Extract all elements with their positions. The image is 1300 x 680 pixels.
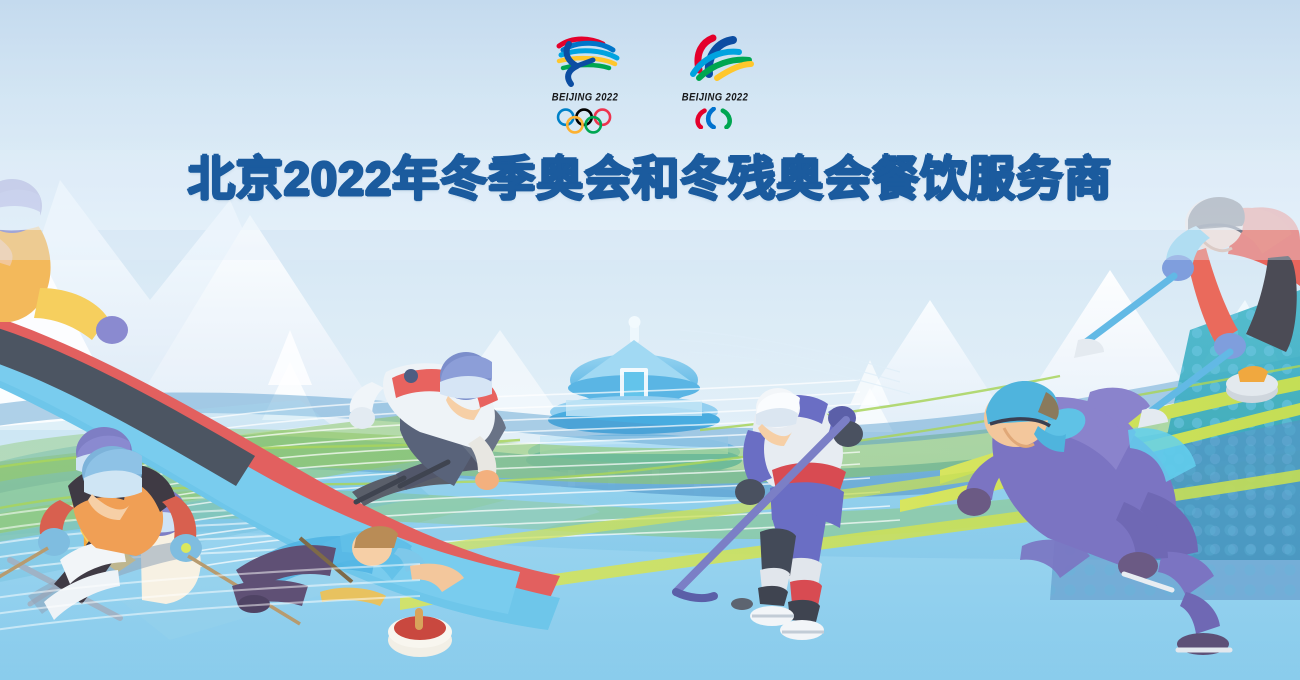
winter-paralympics-fei-emblem-icon: [669, 30, 761, 88]
title-container: 北京2022年冬季奥会和冬残奥会餐饮服务商: [0, 140, 1300, 209]
banner-header: BEIJING 2022: [0, 0, 1300, 215]
olympic-rings-icon: [555, 108, 615, 134]
winter-olympics-dong-emblem-icon: [539, 30, 631, 88]
paralympic-wordmark: BEIJING 2022: [682, 91, 749, 104]
olympic-emblem: BEIJING 2022: [539, 30, 631, 134]
emblem-row: BEIJING 2022: [0, 30, 1300, 134]
page-title: 北京2022年冬季奥会和冬残奥会餐饮服务商: [188, 140, 1113, 209]
olympic-wordmark: BEIJING 2022: [552, 91, 619, 104]
banner-root: BEIJING 2022: [0, 0, 1300, 680]
paralympic-emblem: BEIJING 2022: [669, 30, 761, 129]
paralympic-agitos-icon: [688, 107, 743, 129]
